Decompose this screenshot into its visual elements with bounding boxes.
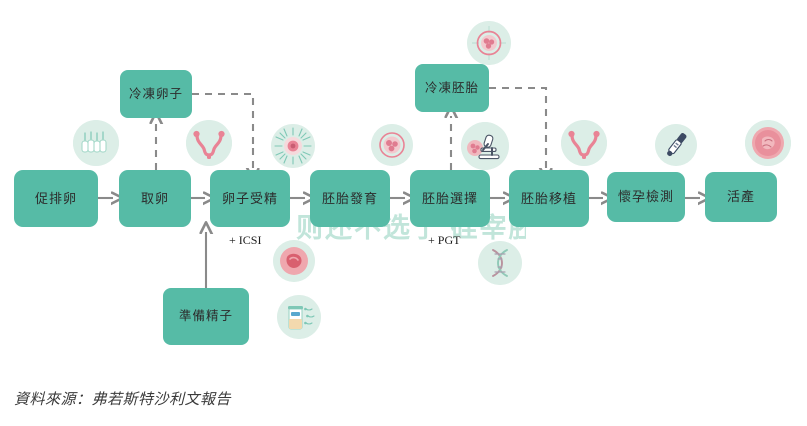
pregnancy-test-icon (655, 124, 697, 166)
newborn-baby-icon (745, 120, 791, 166)
blastocyst-icon (273, 240, 315, 282)
step-box-embryo-development[interactable]: 胚胎發育 (310, 170, 390, 227)
branch-box-frozen-eggs[interactable]: 冷凍卵子 (120, 70, 192, 118)
microscope-embryo-icon (461, 122, 509, 170)
embryo-cell-icon (371, 124, 413, 166)
uterus-icon (561, 120, 607, 166)
branch-box-frozen-embryo[interactable]: 冷凍胚胎 (415, 64, 489, 112)
step-box-ovarian-stimulation[interactable]: 促排卵 (14, 170, 98, 227)
step-box-live-birth[interactable]: 活產 (705, 172, 777, 222)
step-box-egg-fertilization[interactable]: 卵子受精 (210, 170, 290, 227)
step-box-pregnancy-test[interactable]: 懷孕檢測 (607, 172, 685, 222)
uterus-icon (186, 120, 232, 166)
egg-fertilization-icon (271, 124, 315, 168)
diagram-canvas: 则还不选了 硅宰胚胎 促排卵 取卵 卵子受精 胚胎發育 胚胎選擇 胚胎移植 懷孕… (0, 0, 807, 426)
embryo-cell-icon (467, 21, 511, 65)
annotation-icsi: + ICSI (229, 233, 261, 248)
hormone-vials-icon (73, 120, 119, 166)
annotation-pgt: + PGT (428, 233, 460, 248)
sperm-sample-icon (277, 295, 321, 339)
step-box-embryo-transfer[interactable]: 胚胎移植 (509, 170, 589, 227)
dna-helix-icon (478, 241, 522, 285)
step-box-embryo-selection[interactable]: 胚胎選擇 (410, 170, 490, 227)
branch-box-prepare-sperm[interactable]: 準備精子 (163, 288, 249, 345)
step-box-egg-retrieval[interactable]: 取卵 (119, 170, 191, 227)
